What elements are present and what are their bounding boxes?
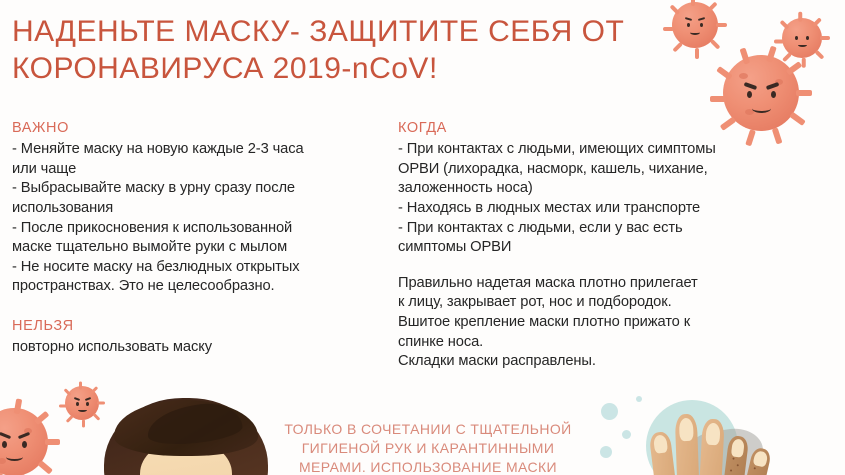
texture-speck — [754, 467, 756, 469]
virus-spike — [695, 48, 699, 59]
virus-spike — [796, 90, 812, 96]
finger — [675, 414, 699, 475]
spacer — [12, 297, 394, 316]
section-heading-kogda: КОГДА — [398, 118, 834, 139]
virus-spike — [716, 66, 732, 80]
virus-spike — [79, 382, 82, 390]
virus-spike — [774, 40, 784, 44]
section-body-nelzya: повторно использовать маску — [12, 338, 394, 358]
virus-mouth — [78, 408, 87, 412]
soap-bubble — [622, 430, 631, 439]
washing-hand-illustration — [638, 392, 838, 475]
virus-spike — [820, 36, 830, 40]
section-heading-vazhno: ВАЖНО — [12, 118, 394, 139]
fingernail — [753, 450, 768, 468]
section-heading-nelzya: НЕЛЬЗЯ — [12, 316, 394, 337]
virus-spike — [798, 12, 802, 22]
virus-eye — [806, 36, 809, 40]
section-body-kogda: - При контактах с людьми, имеющих симпто… — [398, 140, 834, 258]
angry-coronavirus-icon — [782, 18, 822, 58]
section-body-mask-fit: Правильно надетая маска плотно прилегает… — [398, 274, 834, 372]
soap-bubble — [600, 446, 612, 458]
fingernail — [653, 435, 669, 454]
left-column: ВАЖНО - Меняйте маску на новую каждые 2-… — [12, 118, 394, 358]
person-head-illustration — [104, 398, 268, 475]
virus-spike — [82, 420, 85, 428]
virus-mouth — [752, 104, 771, 113]
virus-spike — [38, 460, 53, 474]
bottom-banner-text: ТОЛЬКО В СОЧЕТАНИИ С ТЩАТЕЛЬНОЙ ГИГИЕНОЙ… — [258, 420, 598, 475]
virus-spike — [710, 39, 721, 50]
virus-eye — [795, 36, 798, 40]
soap-bubble — [601, 403, 618, 420]
virus-eye — [747, 91, 752, 98]
page-title: НАДЕНЬТЕ МАСКУ- ЗАЩИТИТЕ СЕБЯ ОТ КОРОНАВ… — [12, 14, 692, 87]
texture-speck — [737, 464, 739, 466]
virus-eye — [22, 441, 27, 448]
virus-mouth — [798, 43, 807, 47]
texture-speck — [732, 458, 734, 460]
angry-coronavirus-icon — [65, 386, 99, 420]
virus-spike — [59, 405, 67, 408]
fingernail — [730, 439, 745, 458]
infographic-poster: НАДЕНЬТЕ МАСКУ- ЗАЩИТИТЕ СЕБЯ ОТ КОРОНАВ… — [0, 0, 845, 475]
virus-spike — [45, 439, 60, 445]
section-body-vazhno: - Меняйте маску на новую каждые 2-3 часа… — [12, 140, 394, 297]
angry-coronavirus-icon — [0, 408, 48, 475]
fingernail — [705, 423, 720, 445]
right-column: КОГДА - При контактах с людьми, имеющих … — [398, 118, 834, 372]
virus-eye — [700, 23, 703, 27]
virus-mouth — [6, 453, 23, 461]
virus-eye — [771, 91, 776, 98]
virus-spike — [710, 96, 726, 102]
virus-eye — [76, 402, 79, 406]
virus-spike — [780, 20, 790, 30]
virus-spike — [815, 50, 825, 60]
virus-eye — [86, 402, 89, 406]
texture-speck — [730, 469, 732, 471]
virus-eye — [2, 441, 7, 448]
fingernail — [679, 418, 694, 442]
virus-texture-dot — [739, 73, 748, 79]
virus-spike — [93, 413, 101, 421]
finger — [699, 418, 725, 475]
virus-spike — [691, 0, 695, 6]
spacer — [398, 258, 834, 274]
virus-spike — [716, 23, 727, 27]
virus-spike — [66, 415, 74, 423]
virus-spike — [802, 58, 806, 68]
